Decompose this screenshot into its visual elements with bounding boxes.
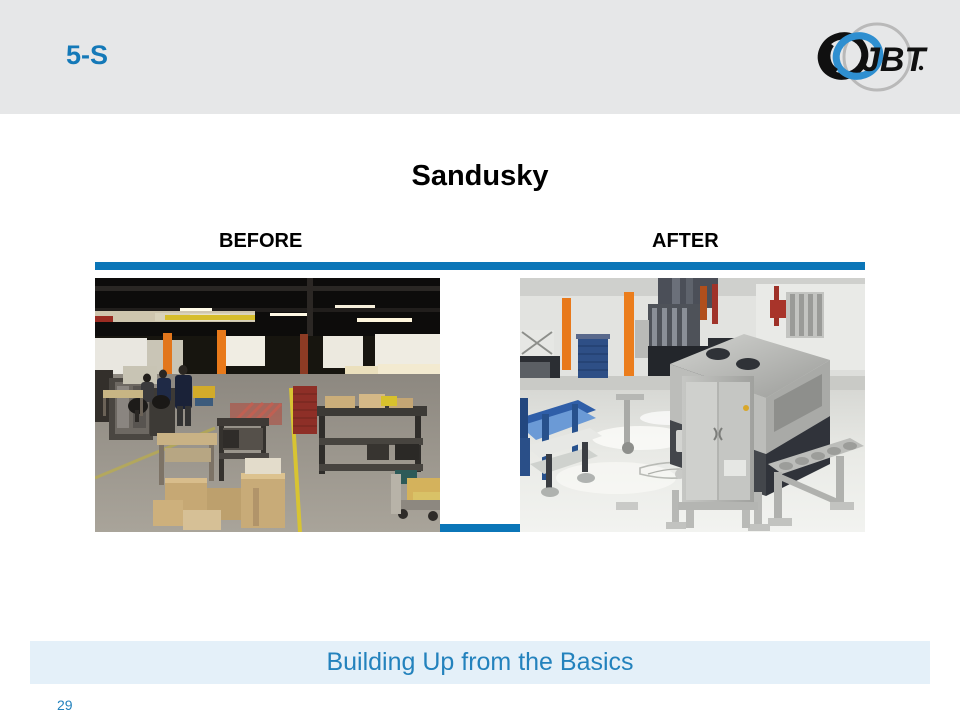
after-label: AFTER <box>652 230 719 253</box>
footer-tagline: Building Up from the Basics <box>30 641 930 684</box>
location-title: Sandusky <box>0 160 960 193</box>
jbt-logo: JBT <box>806 18 936 96</box>
logo-wordmark: JBT <box>861 41 928 79</box>
footer-banner: Building Up from the Basics <box>30 641 930 684</box>
page-number: 29 <box>57 697 73 713</box>
after-photo <box>520 278 865 532</box>
slide: 5-S JBT Sandusky BEFORE AFTER <box>0 0 960 720</box>
logo-registered-dot <box>919 66 923 70</box>
page-title: 5-S <box>66 40 108 71</box>
before-photo <box>95 278 440 532</box>
before-label: BEFORE <box>219 230 302 253</box>
before-after-photo-frame <box>95 262 865 532</box>
